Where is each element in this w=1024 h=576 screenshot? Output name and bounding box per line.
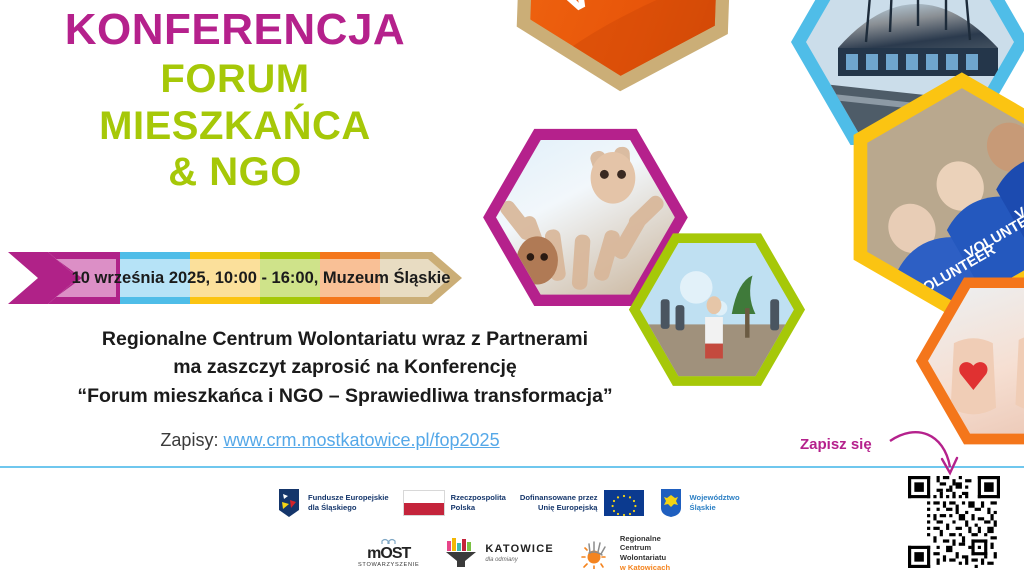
signup-label: Zapisy: — [160, 430, 218, 450]
katowice-logo: KATOWICE dla odmiany — [445, 537, 553, 569]
rcw-katowice-logo: Regionalne Centrum Wolontariatu w Katowi… — [580, 534, 670, 573]
footer-divider — [0, 466, 1024, 468]
wojewodztwo-slaskie-text: Województwo Śląskie — [690, 493, 740, 512]
event-date-text: 10 września 2025, 10:00 - 16:00, Muzeum … — [8, 252, 468, 304]
dofinansowane-ue-logo: Dofinansowane przez Unię Europejską — [520, 490, 644, 516]
fundusze-europejskie-logo: Fundusze Europejskie dla Śląskiego — [276, 488, 389, 518]
registration-url-link[interactable]: www.crm.mostkatowice.pl/fop2025 — [223, 430, 499, 450]
registration-qr-code[interactable] — [908, 476, 1000, 568]
katowice-mark-icon — [445, 537, 479, 569]
rcw-city-text: w Katowicach — [620, 563, 670, 573]
rzeczpospolita-polska-logo: Rzeczpospolita Polska — [403, 490, 506, 516]
conference-poster: VOLUNTEE — [0, 0, 1024, 576]
katowice-wordmark: KATOWICE — [485, 544, 553, 555]
signup-line: Zapisy: www.crm.mostkatowice.pl/fop2025 — [0, 430, 660, 451]
poster-title: KONFERENCJA FORUM MIESZKAŃCA & NGO — [0, 8, 470, 193]
title-line-mieszkanca: MIESZKAŃCA — [0, 106, 470, 147]
most-stowarzyszenie-logo: mOST STOWARZYSZENIE — [358, 538, 419, 569]
most-wordmark: mOST — [367, 546, 410, 562]
qr-callout-label: Zapisz się — [800, 436, 872, 453]
fundusze-europejskie-icon — [276, 488, 302, 518]
most-bridge-icon — [381, 538, 397, 545]
invitation-line-2: ma zaszczyt zaprosić na Konferencję — [0, 353, 690, 381]
slaskie-coat-of-arms-icon — [658, 488, 684, 518]
invitation-line-3: “Forum mieszkańca i NGO – Sprawiedliwa t… — [0, 382, 690, 410]
invitation-line-1: Regionalne Centrum Wolontariatu wraz z P… — [0, 325, 690, 353]
wojewodztwo-slaskie-logo: Województwo Śląskie — [658, 488, 740, 518]
katowice-slogan: dla odmiany — [485, 557, 553, 563]
title-line-forum: FORUM — [0, 59, 470, 100]
most-subtext: STOWARZYSZENIE — [358, 563, 419, 569]
footer-logos-partners-row: mOST STOWARZYSZENIE KATOWICE dla odmiany — [358, 534, 670, 572]
footer-logos-eu-row: Fundusze Europejskie dla Śląskiego Rzecz… — [276, 486, 740, 520]
poland-flag-icon — [403, 490, 445, 516]
fundusze-europejskie-text: Fundusze Europejskie dla Śląskiego — [308, 493, 389, 512]
event-date-banner: 10 września 2025, 10:00 - 16:00, Muzeum … — [8, 252, 468, 304]
title-line-ngo: & NGO — [0, 152, 470, 193]
rcw-text: Regionalne Centrum Wolontariatu — [620, 534, 670, 563]
dofinansowane-ue-text: Dofinansowane przez Unię Europejską — [520, 493, 598, 512]
title-line-konferencja: KONFERENCJA — [0, 8, 470, 53]
invitation-text: Regionalne Centrum Wolontariatu wraz z P… — [0, 325, 690, 410]
eu-flag-icon — [604, 490, 644, 516]
rcw-sun-hand-icon — [580, 537, 614, 569]
rzeczpospolita-polska-text: Rzeczpospolita Polska — [451, 493, 506, 512]
